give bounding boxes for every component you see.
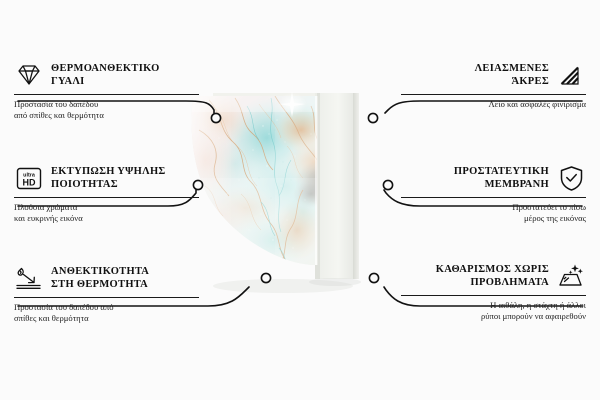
feature-heat-durability: ΑΝΘΕΚΤΙΚΟΤΗΤΑ ΣΤΗ ΘΕΡΜΟΤΗΤΑ Προστασία το… bbox=[14, 265, 199, 325]
feature-title: ΠΡΟΣΤΑΤΕΥΤΙΚΗ ΜΕΜΒΡΑΝΗ bbox=[454, 165, 549, 192]
feature-header: ΚΑΘΑΡΙΣΜΟΣ ΧΩΡΙΣ ΠΡΟΒΛΗΜΑΤΑ bbox=[401, 263, 586, 290]
divider bbox=[401, 94, 586, 95]
feature-heat-resistant-glass: ΘΕΡΜΟΑΝΘΕΚΤΙΚΟ ΓΥΑΛΙ Προστασία του δαπέδ… bbox=[14, 62, 199, 122]
divider bbox=[14, 297, 199, 298]
ultra-hd-icon: ultra HD bbox=[14, 165, 44, 191]
polished-edges-icon bbox=[556, 62, 586, 88]
feature-subtitle: Προστασία του δαπέδου από σπίθες και θερ… bbox=[14, 302, 199, 325]
shield-check-icon bbox=[556, 165, 586, 191]
feature-header: ΛΕΙΑΣΜΕΝΕΣ ΆΚΡΕΣ bbox=[401, 62, 586, 89]
feature-title: ΑΝΘΕΚΤΙΚΟΤΗΤΑ ΣΤΗ ΘΕΡΜΟΤΗΤΑ bbox=[51, 265, 149, 292]
heat-deflection-icon bbox=[14, 265, 44, 291]
feature-easy-cleaning: ΚΑΘΑΡΙΣΜΟΣ ΧΩΡΙΣ ΠΡΟΒΛΗΜΑΤΑ Η αιθάλη, η … bbox=[401, 263, 586, 323]
feature-protective-membrane: ΠΡΟΣΤΑΤΕΥΤΙΚΗ ΜΕΜΒΡΑΝΗ Προστατεύει το πί… bbox=[401, 165, 586, 225]
easy-clean-sparkle-icon bbox=[556, 263, 586, 289]
feature-header: ultra HD ΕΚΤΥΠΩΣΗ ΥΨΗΛΗΣ ΠΟΙΟΤΗΤΑΣ bbox=[14, 165, 199, 192]
svg-text:HD: HD bbox=[23, 177, 36, 187]
product-image bbox=[175, 90, 415, 310]
divider bbox=[401, 295, 586, 296]
divider bbox=[14, 197, 199, 198]
feature-title: ΛΕΙΑΣΜΕΝΕΣ ΆΚΡΕΣ bbox=[475, 62, 549, 89]
feature-subtitle: Προστατεύει το πίσω μέρος της εικόνας bbox=[401, 202, 586, 225]
feature-subtitle: Πλούσια χρώματα και ευκρινής εικόνα bbox=[14, 202, 199, 225]
feature-title: ΘΕΡΜΟΑΝΘΕΚΤΙΚΟ ΓΥΑΛΙ bbox=[51, 62, 160, 89]
infographic-canvas: ΘΕΡΜΟΑΝΘΕΚΤΙΚΟ ΓΥΑΛΙ Προστασία του δαπέδ… bbox=[0, 0, 600, 400]
feature-subtitle: Λείο και ασφαλές φινίρισμα bbox=[401, 99, 586, 111]
feature-high-quality-print: ultra HD ΕΚΤΥΠΩΣΗ ΥΨΗΛΗΣ ΠΟΙΟΤΗΤΑΣ Πλούσ… bbox=[14, 165, 199, 225]
feature-subtitle: Προστασία του δαπέδου από σπίθες και θερ… bbox=[14, 99, 199, 122]
feature-header: ΠΡΟΣΤΑΤΕΥΤΙΚΗ ΜΕΜΒΡΑΝΗ bbox=[401, 165, 586, 192]
divider bbox=[401, 197, 586, 198]
feature-header: ΑΝΘΕΚΤΙΚΟΤΗΤΑ ΣΤΗ ΘΕΡΜΟΤΗΤΑ bbox=[14, 265, 199, 292]
feature-subtitle: Η αιθάλη, η στάχτη ή άλλοι ρύποι μπορούν… bbox=[401, 300, 586, 323]
feature-polished-edges: ΛΕΙΑΣΜΕΝΕΣ ΆΚΡΕΣ Λείο και ασφαλές φινίρι… bbox=[401, 62, 586, 110]
divider bbox=[14, 94, 199, 95]
diamond-icon bbox=[14, 62, 44, 88]
feature-title: ΕΚΤΥΠΩΣΗ ΥΨΗΛΗΣ ΠΟΙΟΤΗΤΑΣ bbox=[51, 165, 166, 192]
feature-title: ΚΑΘΑΡΙΣΜΟΣ ΧΩΡΙΣ ΠΡΟΒΛΗΜΑΤΑ bbox=[436, 263, 549, 290]
feature-header: ΘΕΡΜΟΑΝΘΕΚΤΙΚΟ ΓΥΑΛΙ bbox=[14, 62, 199, 89]
